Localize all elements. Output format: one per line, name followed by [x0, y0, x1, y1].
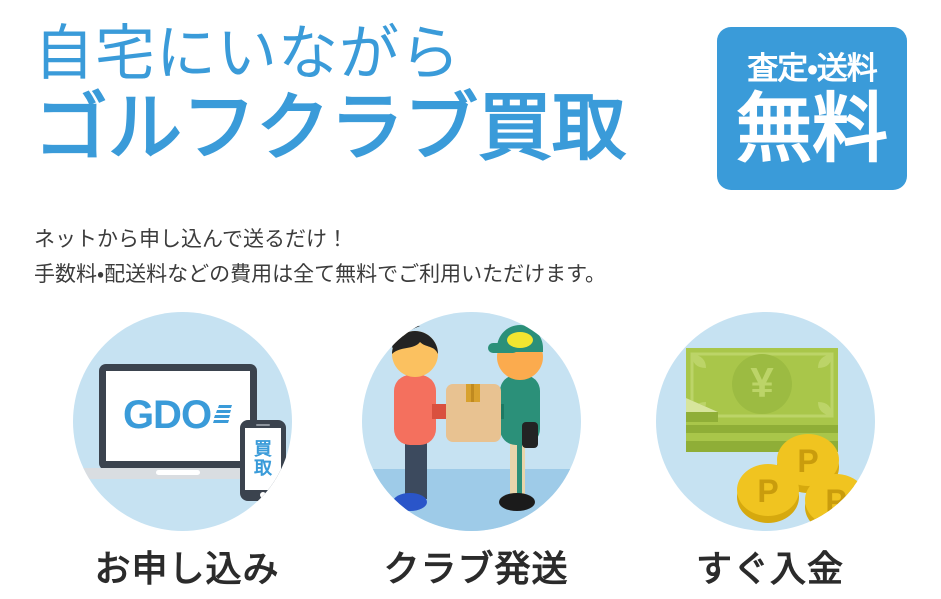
phone-screen: 買 取 — [245, 428, 281, 490]
badge-main-label: 無料 — [736, 89, 888, 171]
step-payment-illustration: ¥ P P P — [656, 312, 875, 531]
steps-row: GDO — [0, 312, 941, 599]
description-line-2: 手数料・配送料などの費用は全て無料でご利用いただけます。 — [34, 257, 894, 292]
promo-banner: 自宅にいながら ゴルフクラブ買取 査定・送料 無料 ネットから申し込んで送るだけ… — [0, 0, 941, 599]
gdo-logo-text: GDO — [123, 395, 211, 435]
description-line-1: ネットから申し込んで送るだけ！ — [34, 222, 894, 257]
step-apply-illustration: GDO — [73, 312, 292, 531]
coin-letter-3: P — [825, 483, 846, 519]
free-badge: 査定・送料 無料 — [717, 27, 907, 190]
step-apply: GDO — [62, 312, 312, 599]
phone-home-button — [260, 492, 266, 498]
gdo-logo: GDO — [123, 395, 233, 437]
step-ship: クラブ発送 — [351, 312, 601, 599]
phone-text-bottom: 取 — [254, 459, 272, 478]
smartphone-icon: 買 取 — [240, 420, 286, 501]
description: ネットから申し込んで送るだけ！ 手数料・配送料などの費用は全て無料でご利用いただ… — [34, 222, 894, 292]
coin-letter-1: P — [797, 443, 818, 479]
yen-symbol: ¥ — [750, 359, 774, 406]
headline-line-2: ゴルフクラブ買取 — [34, 86, 714, 170]
step-ship-label: クラブ発送 — [351, 540, 601, 592]
phone-speaker — [256, 424, 270, 426]
step-apply-label: お申し込み — [62, 540, 312, 592]
coin-letter-2: P — [757, 473, 778, 509]
package-box — [446, 384, 501, 442]
headline-line-1: 自宅にいながら — [34, 18, 714, 90]
phone-text-top: 買 — [254, 440, 272, 459]
gdo-speedlines-icon — [213, 397, 233, 437]
headline: 自宅にいながら ゴルフクラブ買取 — [34, 18, 714, 170]
badge-top-label: 査定・送料 — [747, 51, 877, 87]
laptop-icon: GDO — [99, 364, 257, 470]
step-payment-label: すぐ入金 — [645, 540, 895, 592]
step-ship-illustration — [362, 312, 581, 531]
laptop-trackpad-notch — [156, 470, 200, 475]
laptop-screen: GDO — [106, 371, 250, 461]
step-payment: ¥ P P P — [645, 312, 895, 599]
